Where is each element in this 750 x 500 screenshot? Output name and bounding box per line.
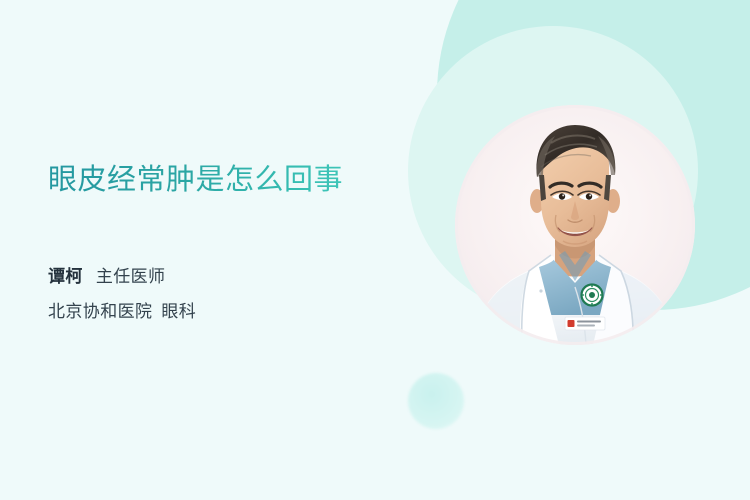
video-cover-card: 眼皮经常肿是怎么回事 谭柯主任医师 北京协和医院眼科	[0, 0, 750, 500]
name-tag	[565, 317, 605, 330]
doctor-name: 谭柯	[48, 267, 83, 286]
department-name: 眼科	[161, 302, 196, 321]
doctor-portrait	[455, 105, 695, 345]
doctor-portrait-image	[455, 105, 695, 345]
text-column: 眼皮经常肿是怎么回事 谭柯主任医师 北京协和医院眼科	[48, 160, 448, 327]
doctor-info: 谭柯主任医师 北京协和医院眼科	[48, 262, 448, 327]
hospital-badge-icon	[582, 285, 603, 306]
page-title: 眼皮经常肿是怎么回事	[48, 160, 448, 200]
hospital-name: 北京协和医院	[48, 302, 152, 321]
decorative-circle-small	[408, 373, 464, 429]
doctor-affiliation-row: 北京协和医院眼科	[48, 297, 448, 327]
doctor-professional-title: 主任医师	[96, 267, 166, 286]
doctor-name-row: 谭柯主任医师	[48, 262, 448, 292]
